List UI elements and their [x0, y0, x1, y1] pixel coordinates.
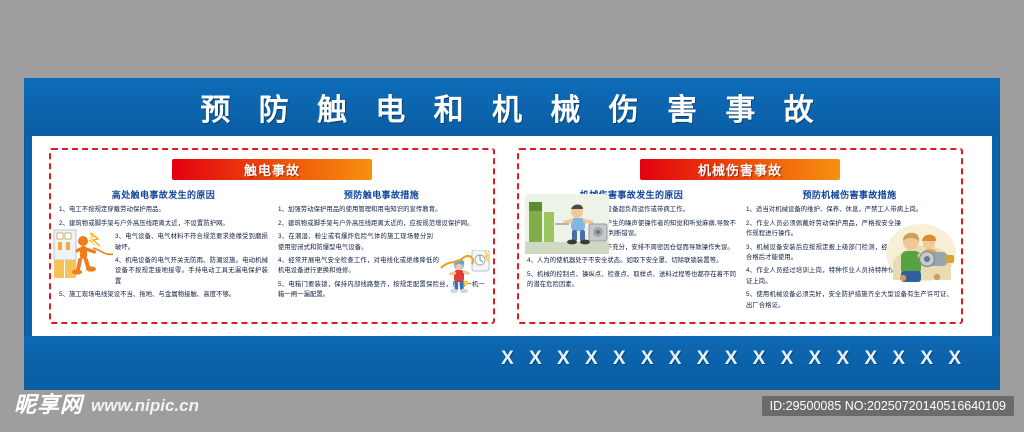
footer: 昵享网 www.nipic.cn ID:29500085 NO:20250720… [0, 390, 1024, 432]
column-title: 机械伤害事故发生的原因 [527, 188, 736, 201]
list-item: 3、准备不充分，安排不周密因仓促而导致操作失误。 [527, 243, 736, 253]
bottom-bar-placeholder-text: X X X X X X X X X X X X X X X X X [501, 348, 966, 370]
list-item: 4、经常开展电气安全检查工作，对电线化或绝缘降低的机电设备进行更换和维修。 [278, 256, 485, 276]
list-item: 3、机械设备安装后应按规定报上级部门检测，经检测合格后才能使用。 [746, 243, 953, 263]
panel-electric-shock: 触电事故 高处触电事故发生的原因 1、电工不按规定穿戴劳动保护用品。 2、建筑物… [49, 148, 495, 324]
list-item: 5、使用机械设备必须完好，安全防护措施齐全大型设备有生产许可证、出厂合格证。 [746, 290, 953, 310]
column-title: 高处触电事故发生的原因 [59, 188, 268, 201]
list-item: 3、电气设备、电气材料不符合规范要求绝缘受到磨损破坏。 [59, 232, 268, 252]
panel-mechanical-injury: 机械伤害事故 机械伤害事故发生的原因 1、机械设备超负荷运作或带病工作。 2、机… [517, 148, 963, 324]
panel-badge-electric: 触电事故 [172, 159, 372, 180]
poster-board: 预 防 触 电 和 机 械 伤 害 事 故 触电事故 高处触电事故发生的原因 1… [24, 78, 1000, 390]
list-item: 4、作业人员经过培训上岗，特种作业人员持特种作业证上岗。 [746, 266, 953, 286]
screenshot-root: 预 防 触 电 和 机 械 伤 害 事 故 触电事故 高处触电事故发生的原因 1… [0, 0, 1024, 432]
list-item: 5、施工现场电线架设不当、拖地、与金属物接触、高度不够。 [59, 290, 268, 300]
list-item: 4、机电设备的电气开关无防雨、防潮设施。电动机械设备不按规定接地接零。手持电动工… [59, 256, 268, 287]
list-item: 2、建筑物或脚手架与户外高压线距离太近的，应按规范增设保护网。 [278, 219, 485, 229]
list-item: 3、在潮湿、粉尘或有爆炸危险气体的施工现场要分别使用密闭式和防爆型电气设备。 [278, 232, 485, 252]
panel-badge-label: 机械伤害事故 [698, 160, 782, 179]
page-title: 预 防 触 电 和 机 械 伤 害 事 故 [200, 85, 823, 129]
column-measures-mechanical: 预防机械伤害事故措施 1、适当对机械设备的维护、保养、休息，严禁工人带病上岗。 … [742, 188, 961, 314]
watermark-url: www.nipic.cn [91, 397, 199, 414]
poster-content-area: 触电事故 高处触电事故发生的原因 1、电工不按规定穿戴劳动保护用品。 2、建筑物… [32, 136, 992, 336]
image-id-badge: ID:29500085 NO:20250720140516640109 [762, 396, 1014, 416]
panel-columns: 机械伤害事故发生的原因 1、机械设备超负荷运作或带病工作。 2、机械产生的噪声使… [519, 188, 961, 314]
panel-badge-label: 触电事故 [244, 160, 300, 179]
panel-columns: 高处触电事故发生的原因 1、电工不按规定穿戴劳动保护用品。 2、建筑物或脚手架与… [51, 188, 493, 304]
column-title: 预防触电事故措施 [278, 188, 485, 201]
column-measures-electric: 预防触电事故措施 1、加强劳动保护用品的使用管理和用电知识的宣传教育。 2、建筑… [274, 188, 493, 304]
list-item: 2、作业人员必须佩戴好劳动保护用品，严格按安全操作规程进行操作。 [746, 219, 953, 239]
column-causes-electric: 高处触电事故发生的原因 1、电工不按规定穿戴劳动保护用品。 2、建筑物或脚手架与… [51, 188, 274, 304]
list-item: 2、机械产生的噪声使操作者的知觉和听觉麻痹,导致不易判断或判断错误。 [527, 219, 736, 239]
list-item: 5、电箱门要装锁，保持内部线路整齐，按规定配置保险丝，严格一机一箱一闸一漏配置。 [278, 280, 485, 300]
panels-container: 触电事故 高处触电事故发生的原因 1、电工不按规定穿戴劳动保护用品。 2、建筑物… [32, 136, 992, 336]
poster-bottom-bar: X X X X X X X X X X X X X X X X X [24, 336, 1000, 390]
list-item: 4、人为的使机器处于不安全状态。如取下安全罩、切除联锁装置等。 [527, 256, 736, 266]
poster-title-bar: 预 防 触 电 和 机 械 伤 害 事 故 [24, 78, 1000, 136]
list-item: 2、建筑物或脚手架与户外高压线距离太近，不设置防护网。 [59, 219, 268, 229]
column-causes-mechanical: 机械伤害事故发生的原因 1、机械设备超负荷运作或带病工作。 2、机械产生的噪声使… [519, 188, 742, 314]
watermark-logo-text: 昵享网 [14, 394, 83, 416]
list-item: 1、机械设备超负荷运作或带病工作。 [527, 205, 736, 215]
list-item: 1、适当对机械设备的维护、保养、休息，严禁工人带病上岗。 [746, 205, 953, 215]
watermark: 昵享网 www.nipic.cn [14, 394, 199, 416]
list-item: 1、电工不按规定穿戴劳动保护用品。 [59, 205, 268, 215]
column-title: 预防机械伤害事故措施 [746, 188, 953, 201]
list-item: 5、机械的控制点、操纵点、检查点、取样点、送料过程等也都存在着不同的潜在危险因素… [527, 270, 736, 290]
list-item: 1、加强劳动保护用品的使用管理和用电知识的宣传教育。 [278, 205, 485, 215]
panel-badge-mechanical: 机械伤害事故 [640, 159, 840, 180]
